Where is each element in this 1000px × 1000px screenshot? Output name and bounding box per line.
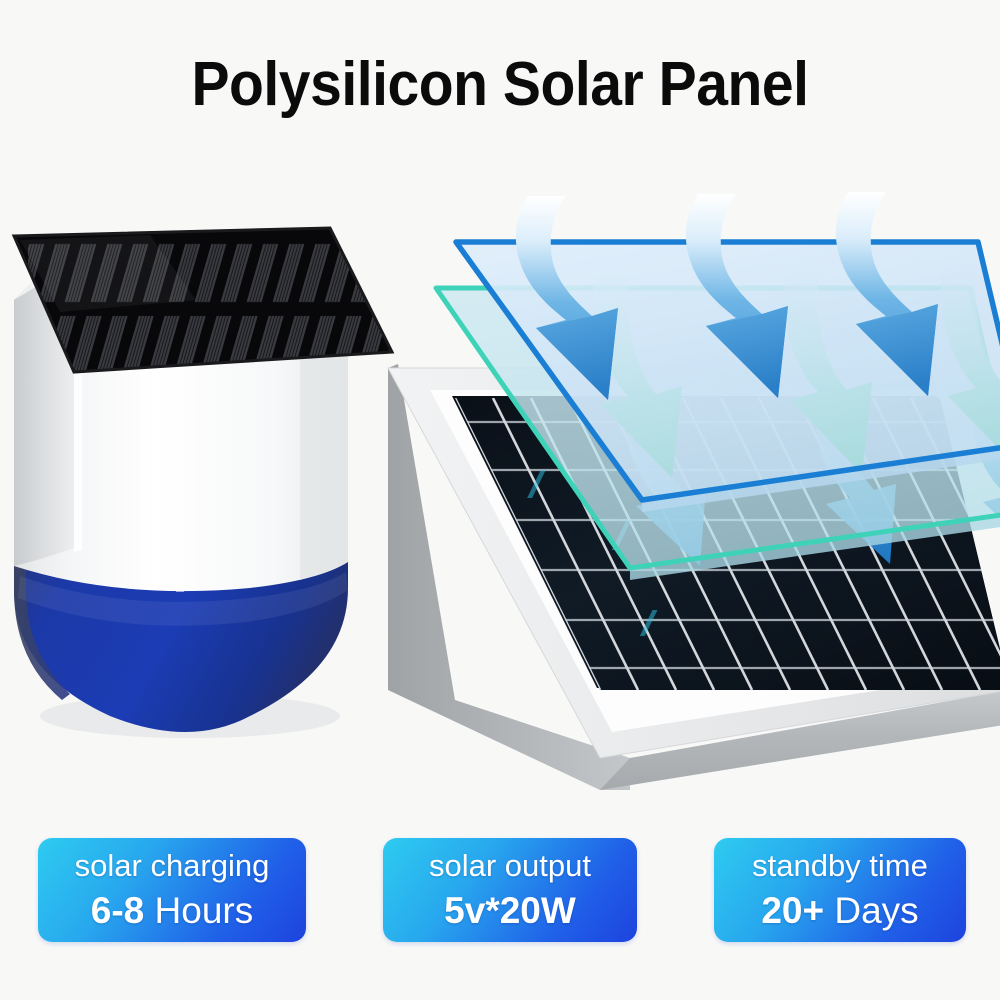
solar-panel-exploded-diagram [285, 192, 1000, 790]
badge-value-bold: 20+ [761, 890, 824, 931]
infographic-canvas: Polysilicon Solar Panel [0, 0, 1000, 1000]
badge-value-rest: Hours [144, 890, 253, 931]
badge-label: solar output [397, 846, 623, 886]
badge-label: standby time [728, 846, 952, 886]
solar-siren-device [14, 228, 428, 738]
badge-solar-charging[interactable]: solar charging 6-8 Hours [38, 838, 306, 942]
badge-solar-output[interactable]: solar output 5v*20W [383, 838, 637, 942]
badge-value: 5v*20W [397, 886, 623, 936]
badge-value: 20+ Days [728, 886, 952, 936]
badge-value-bold: 6-8 [91, 890, 144, 931]
badge-label: solar charging [52, 846, 292, 886]
badge-value-bold: 5v*20W [444, 890, 576, 931]
badge-value-rest: Days [824, 890, 919, 931]
badge-value: 6-8 Hours [52, 886, 292, 936]
feature-badges: solar charging 6-8 Hours solar output 5v… [0, 838, 1000, 958]
badge-standby-time[interactable]: standby time 20+ Days [714, 838, 966, 942]
